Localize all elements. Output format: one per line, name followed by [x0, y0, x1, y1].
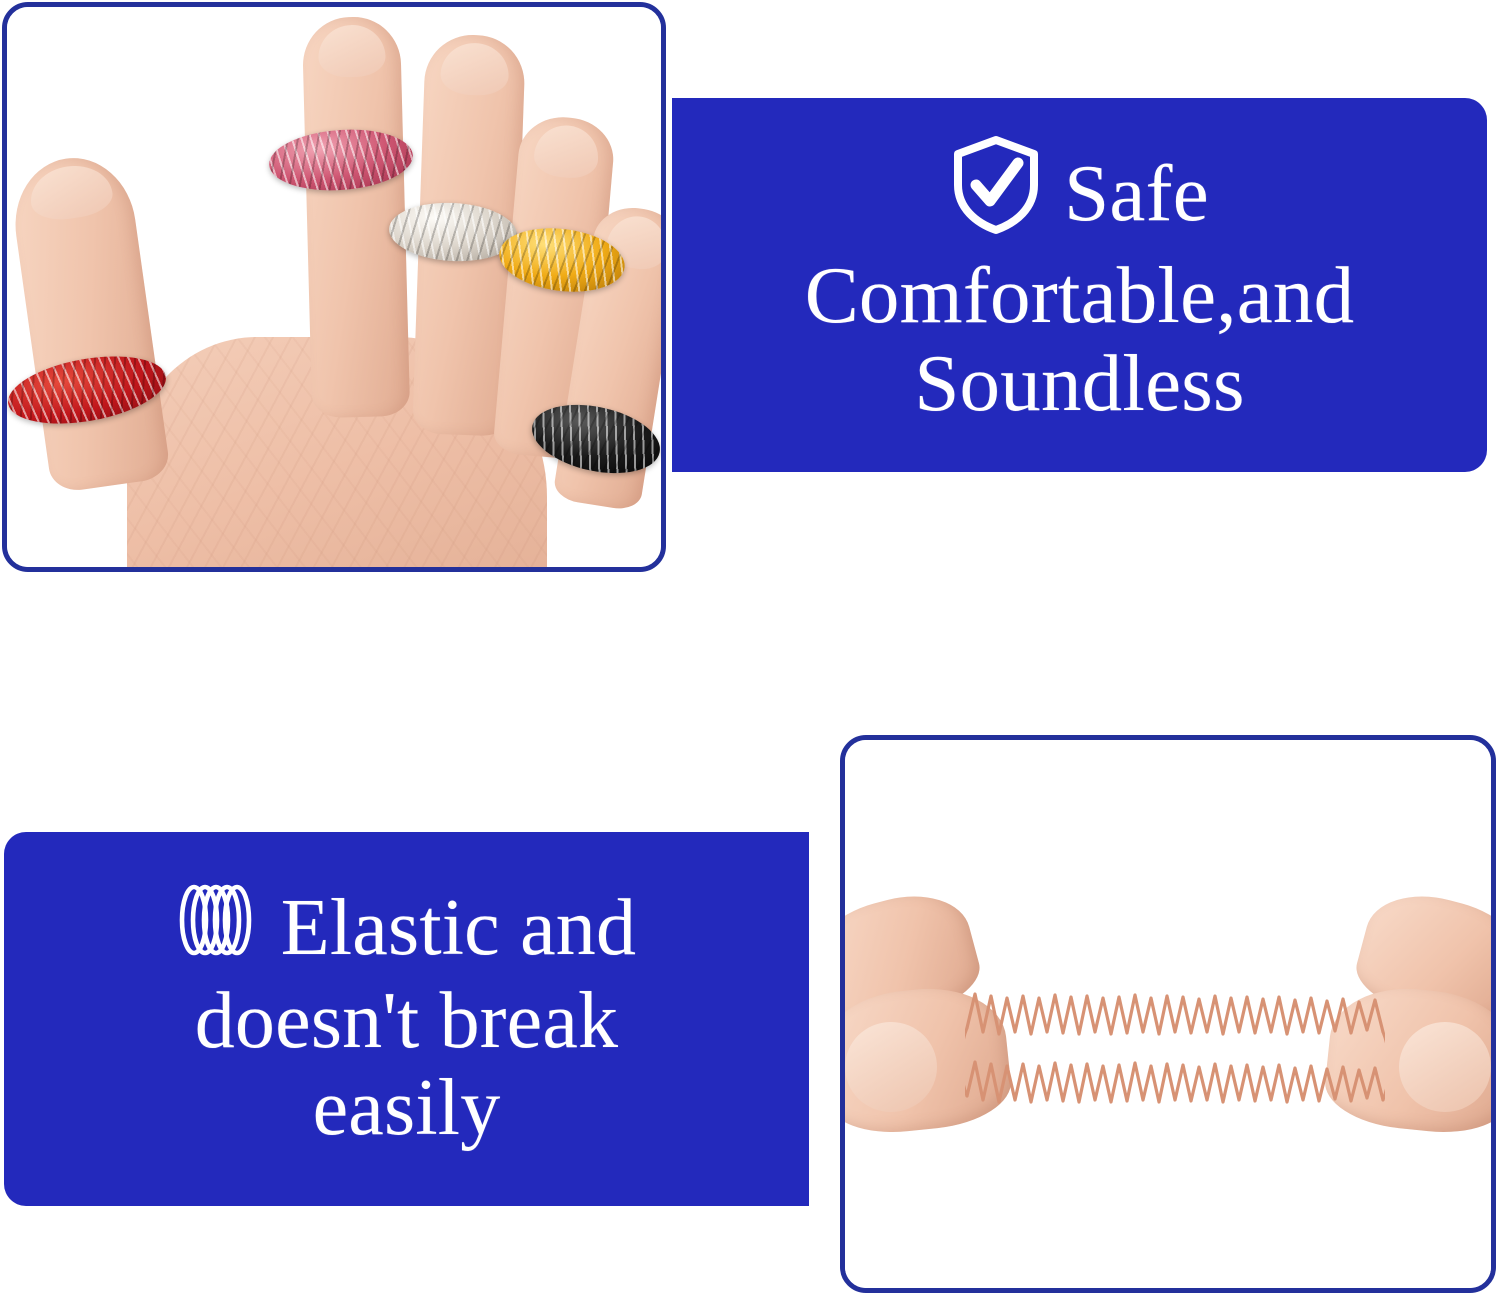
- feature-panel-elastic: Elastic and doesn't break easily: [4, 832, 809, 1206]
- headline-line-1: Elastic and: [177, 879, 636, 978]
- headline-text-3: Soundless: [805, 340, 1355, 427]
- headline-text-1: Elastic and: [281, 885, 636, 971]
- headline-text-2: Comfortable,and: [805, 252, 1355, 339]
- coil-spring-icon: [177, 879, 255, 978]
- right-thumb-nail: [1399, 1022, 1491, 1112]
- left-thumb-nail: [845, 1022, 937, 1112]
- stretch-illustration: [845, 740, 1491, 1288]
- feature-elastic-headline: Elastic and doesn't break easily: [177, 879, 636, 1151]
- photo-spring-stretch: [840, 735, 1496, 1293]
- thumb-nail: [27, 161, 115, 224]
- shield-check-icon: [950, 135, 1042, 252]
- feature-panel-safe: Safe Comfortable,and Soundless: [672, 98, 1487, 472]
- headline-text-1: Safe: [1064, 150, 1209, 237]
- index-nail: [318, 24, 386, 78]
- headline-text-3: easily: [177, 1065, 636, 1151]
- headline-line-1: Safe: [805, 135, 1355, 252]
- ring-nail: [532, 123, 601, 180]
- hand-illustration: [7, 7, 661, 567]
- middle-nail: [440, 42, 510, 96]
- infographic-canvas: Safe Comfortable,and Soundless: [0, 0, 1500, 1301]
- finger-thumb: [7, 150, 172, 493]
- headline-text-2: doesn't break: [177, 978, 636, 1064]
- stretched-spring-coil: [965, 988, 1385, 1138]
- feature-safe-headline: Safe Comfortable,and Soundless: [805, 135, 1355, 427]
- photo-hand-rings: [2, 2, 666, 572]
